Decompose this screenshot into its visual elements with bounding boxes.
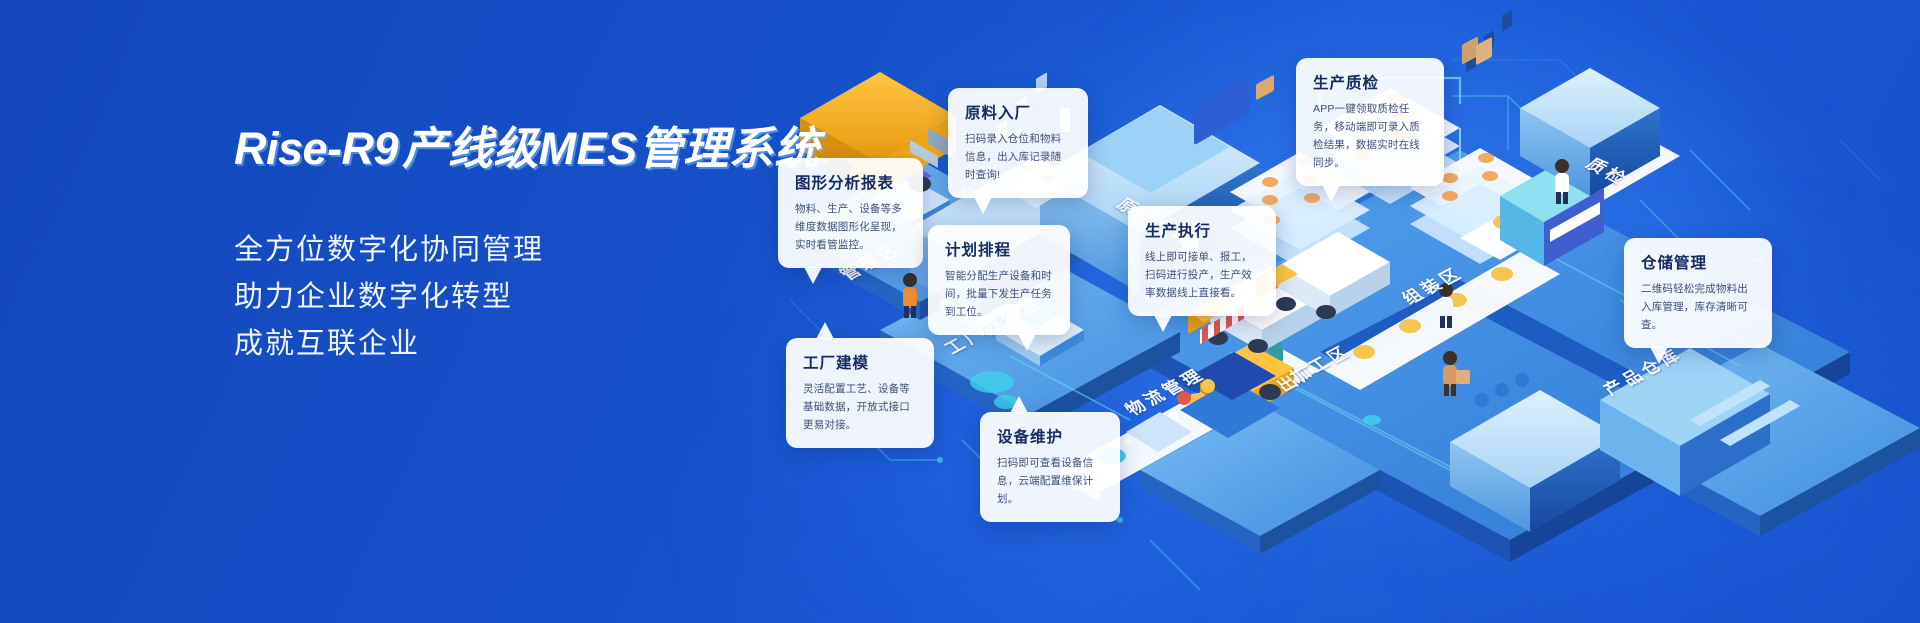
mes-promo-banner: Rise-R9产线级MES管理系统 全方位数字化协同管理 助力企业数字化转型 成… [0,0,1920,623]
page-title: Rise-R9产线级MES管理系统 [234,122,794,175]
callout-desc: 线上即可接单、报工，扫码进行投产，生产效率数据线上直接看。 [1145,248,1259,302]
subtitle-list: 全方位数字化协同管理 助力企业数字化转型 成就互联企业 [234,227,794,368]
callout-production-execution[interactable]: 生产执行 线上即可接单、报工，扫码进行投产，生产效率数据线上直接看。 [1128,206,1276,316]
callout-warehouse-management[interactable]: 仓储管理 二维码轻松完成物料出入库管理，库存清晰可查。 [1624,238,1772,348]
headline-block: Rise-R9产线级MES管理系统 全方位数字化协同管理 助力企业数字化转型 成… [234,122,794,368]
callout-factory-modeling[interactable]: 工厂建模 灵活配置工艺、设备等基础数据，开放式接口更易对接。 [786,338,934,448]
callout-desc: 扫码即可查看设备信息，云端配置维保计划。 [997,454,1103,508]
brand-name: Rise-R9 [234,123,398,174]
callout-graph-report[interactable]: 图形分析报表 物料、生产、设备等多维度数据图形化呈现，实时看管监控。 [778,158,923,268]
callout-equipment-maintenance[interactable]: 设备维护 扫码即可查看设备信息，云端配置维保计划。 [980,412,1120,522]
callout-title: 计划排程 [945,238,1053,260]
callout-title: 生产质检 [1313,71,1427,93]
product-name: 产线级MES管理系统 [402,123,820,174]
callout-material-inbound[interactable]: 原料入厂 扫码录入仓位和物料信息，出入库记录随时查询! [948,88,1088,198]
callout-tail-icon [804,267,822,284]
callout-tail-icon [1322,185,1340,202]
callout-tail-icon [974,197,992,214]
callout-tail-icon [816,322,834,339]
subtitle-line-1: 全方位数字化协同管理 [234,227,794,274]
callout-title: 图形分析报表 [795,171,906,193]
callout-tail-icon [1018,334,1036,351]
callout-desc: 二维码轻松完成物料出入库管理，库存清晰可查。 [1641,280,1755,334]
callout-desc: 智能分配生产设备和时间，批量下发生产任务到工位。 [945,267,1053,321]
callout-title: 生产执行 [1145,219,1259,241]
callout-title: 设备维护 [997,425,1103,447]
callout-title: 原料入厂 [965,101,1071,123]
callout-title: 仓储管理 [1641,251,1755,273]
subtitle-line-2: 助力企业数字化转型 [234,274,794,321]
callout-quality-inspection[interactable]: 生产质检 APP一键领取质检任务，移动端即可录入质检结果，数据实时在线同步。 [1296,58,1444,186]
callout-desc: 灵活配置工艺、设备等基础数据，开放式接口更易对接。 [803,380,917,434]
callout-tail-icon [1010,396,1028,413]
callout-tail-icon [1650,347,1668,364]
callout-tail-icon [1154,315,1172,332]
callout-desc: 扫码录入仓位和物料信息，出入库记录随时查询! [965,130,1071,184]
subtitle-line-3: 成就互联企业 [234,321,794,368]
callout-desc: APP一键领取质检任务，移动端即可录入质检结果，数据实时在线同步。 [1313,100,1427,172]
callout-title: 工厂建模 [803,351,917,373]
callout-desc: 物料、生产、设备等多维度数据图形化呈现，实时看管监控。 [795,200,906,254]
callout-plan-scheduling[interactable]: 计划排程 智能分配生产设备和时间，批量下发生产任务到工位。 [928,225,1070,335]
